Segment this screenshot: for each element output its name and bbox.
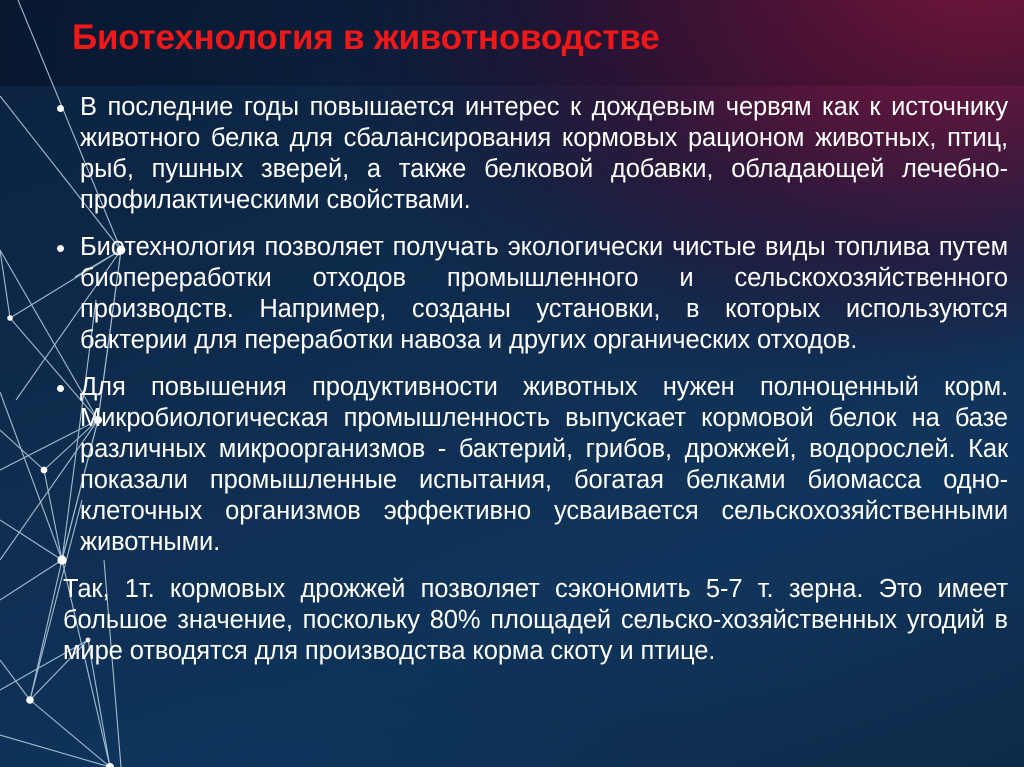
slide-canvas: Биотехнология в животноводстве В последн… — [0, 0, 1024, 767]
slide-body: В последние годы повышается интерес к до… — [48, 92, 1008, 667]
page-title: Биотехнология в животноводстве — [72, 16, 972, 60]
closing-paragraph-text: Так, 1т. кормовых дрожжей позволяет сэко… — [63, 574, 1008, 667]
bullet-paragraph-2: Биотехнология позволяет получать экологи… — [48, 232, 1008, 356]
closing-paragraph: Так, 1т. кормовых дрожжей позволяет сэко… — [48, 574, 1008, 667]
bullet-paragraph-3-text: Для повышения продуктивности животных ну… — [80, 372, 1008, 558]
bullet-paragraph-3: Для повышения продуктивности животных ну… — [48, 372, 1008, 558]
bullet-paragraph-1-text: В последние годы повышается интерес к до… — [80, 92, 1008, 216]
bullet-paragraph-1: В последние годы повышается интерес к до… — [48, 92, 1008, 216]
bullet-paragraph-2-text: Биотехнология позволяет получать экологи… — [80, 232, 1008, 356]
